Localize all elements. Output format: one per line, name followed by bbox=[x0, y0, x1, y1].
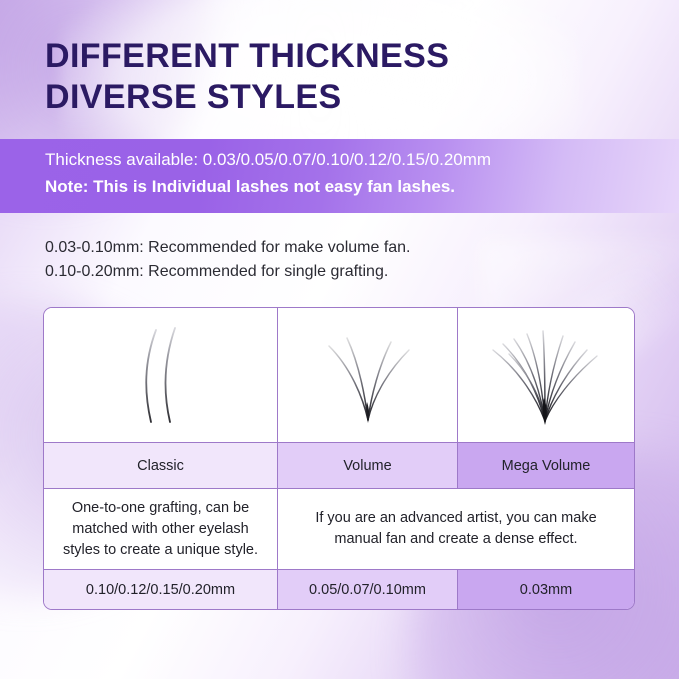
volume-lash-illustration-cell bbox=[278, 308, 458, 442]
lash-comparison-table: Classic Volume Mega Volume One-to-one gr… bbox=[43, 307, 635, 610]
recommendation-note-2: 0.10-0.20mm: Recommended for single graf… bbox=[45, 260, 411, 284]
banner-note-text: Note: This is Individual lashes not easy… bbox=[45, 173, 491, 200]
classic-lash-icon bbox=[126, 320, 196, 430]
page-title: DIFFERENT THICKNESS DIVERSE STYLES bbox=[45, 36, 625, 118]
table-row-illustrations bbox=[44, 308, 634, 442]
mega-volume-lash-illustration-cell bbox=[458, 308, 634, 442]
table-row-labels: Classic Volume Mega Volume bbox=[44, 442, 634, 488]
classic-lash-illustration-cell bbox=[44, 308, 278, 442]
thickness-cell-classic: 0.10/0.12/0.15/0.20mm bbox=[44, 569, 278, 609]
thickness-cell-mega-volume: 0.03mm bbox=[458, 569, 634, 609]
table-row-descriptions: One-to-one grafting, can be matched with… bbox=[44, 488, 634, 569]
description-cell-volume-mega: If you are an advanced artist, you can m… bbox=[278, 488, 634, 569]
label-cell-classic: Classic bbox=[44, 442, 278, 488]
table-row-thicknesses: 0.10/0.12/0.15/0.20mm 0.05/0.07/0.10mm 0… bbox=[44, 569, 634, 609]
thickness-cell-volume: 0.05/0.07/0.10mm bbox=[278, 569, 458, 609]
infographic-page: DIFFERENT THICKNESS DIVERSE STYLES Thick… bbox=[0, 0, 679, 679]
page-title-line-1: DIFFERENT THICKNESS bbox=[45, 36, 625, 77]
thickness-banner: Thickness available: 0.03/0.05/0.07/0.10… bbox=[0, 139, 679, 213]
thickness-available-text: Thickness available: 0.03/0.05/0.07/0.10… bbox=[45, 147, 491, 173]
mega-volume-fan-icon bbox=[483, 320, 609, 430]
thickness-banner-text: Thickness available: 0.03/0.05/0.07/0.10… bbox=[45, 147, 491, 200]
label-cell-volume: Volume bbox=[278, 442, 458, 488]
label-cell-mega-volume: Mega Volume bbox=[458, 442, 634, 488]
description-cell-classic: One-to-one grafting, can be matched with… bbox=[44, 488, 278, 569]
volume-fan-icon bbox=[313, 320, 423, 430]
page-title-line-2: DIVERSE STYLES bbox=[45, 77, 625, 118]
recommendation-note-1: 0.03-0.10mm: Recommended for make volume… bbox=[45, 236, 411, 260]
recommendation-notes: 0.03-0.10mm: Recommended for make volume… bbox=[45, 236, 411, 284]
